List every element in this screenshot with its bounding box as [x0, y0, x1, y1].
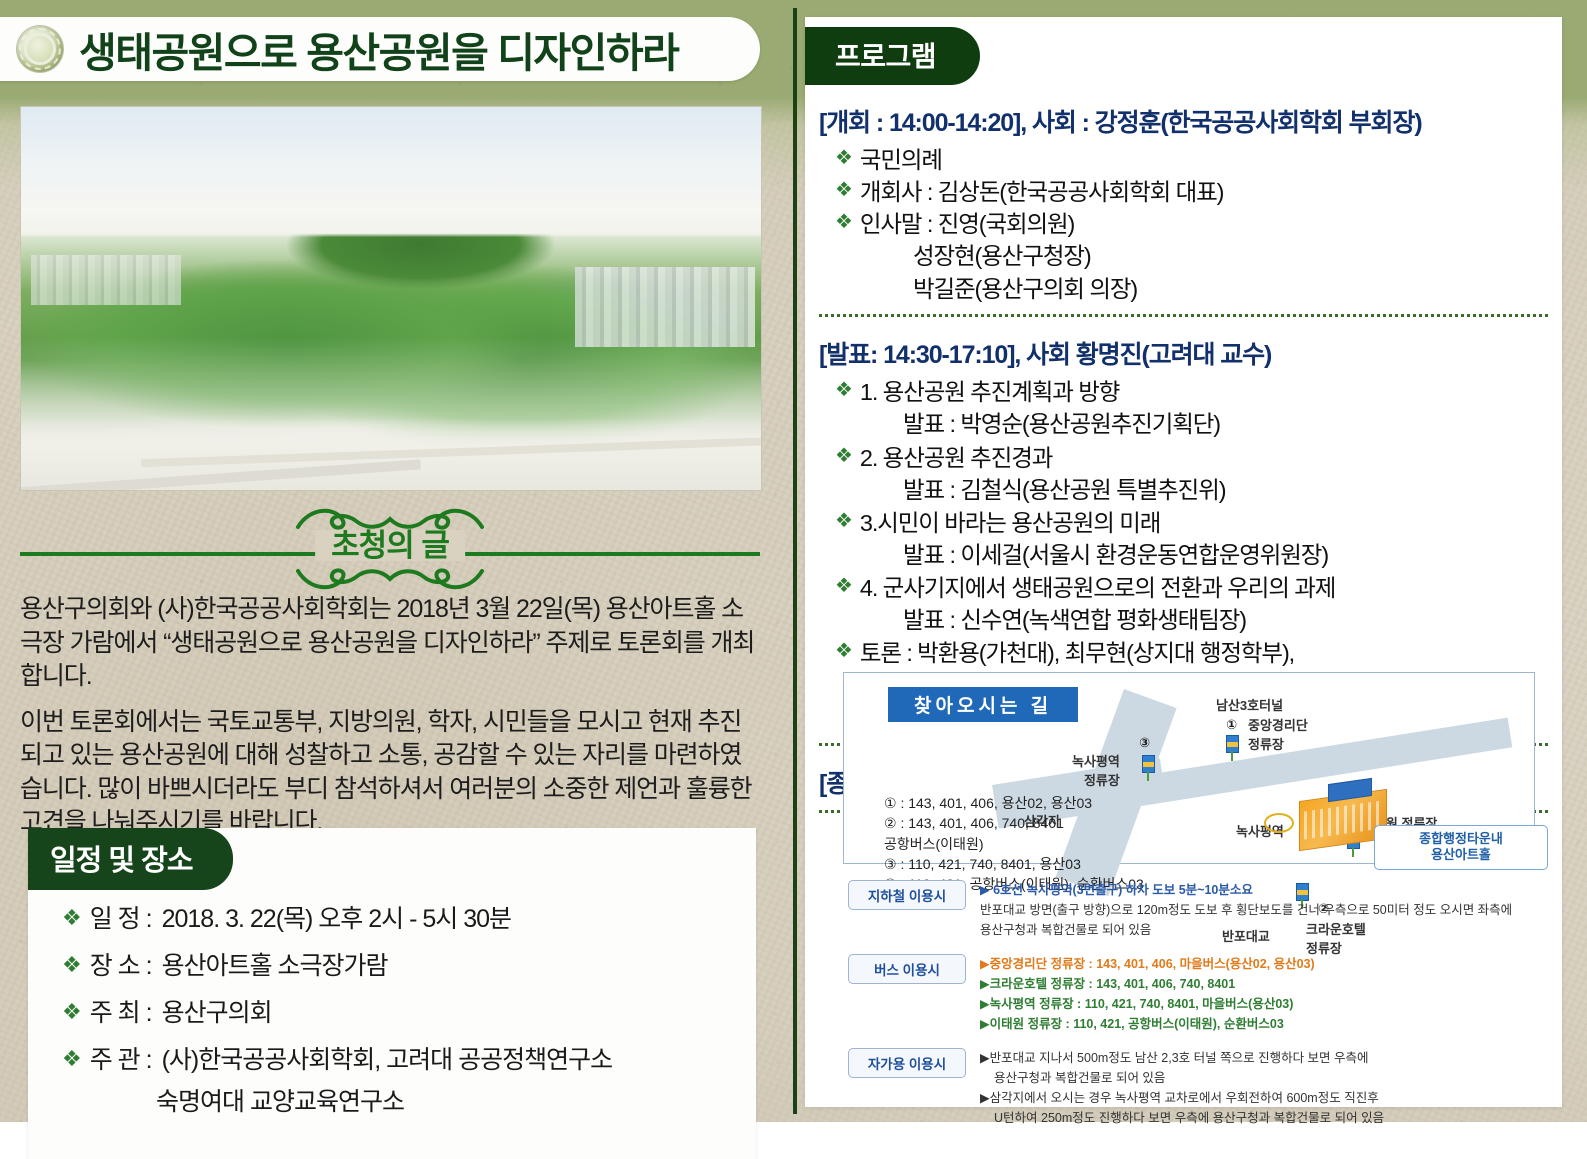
schedule-item-label: 장 소 :	[90, 951, 152, 981]
transport-line: ▶녹사평역 정류장 : 110, 421, 740, 8401, 마을버스(용산…	[980, 994, 1315, 1014]
bus-stop-pin-icon	[1226, 735, 1239, 753]
park-rendering-image	[20, 106, 762, 491]
transport-line: 반포대교 방면(출구 방향)으로 120m정도 도보 후 횡단보도를 건너 우측…	[980, 900, 1512, 920]
legend-line-1: ② : 143, 401, 406, 740, 8401	[884, 813, 1144, 833]
transport-line: 용산구청과 복합건물로 되어 있음	[980, 920, 1512, 940]
skyline-left	[31, 255, 181, 305]
invitation-paragraph-1: 용산구의회와 (사)한국공공사회학회는 2018년 3월 22일(목) 용산아트…	[20, 593, 760, 694]
diamond-bullet-icon: ❖	[835, 209, 852, 236]
presentation-title-2: 3.시민이 바라는 용산공원의 미래	[860, 508, 1160, 538]
presentation-presenter-2: 발표 : 이세걸(서울시 환경운동연합운영위원장)	[903, 540, 1562, 570]
schedule-tab-label: 일정 및 장소	[28, 828, 233, 890]
vertical-divider	[793, 8, 797, 1114]
list-item: ❖ 인사말 : 진영(국회의원)	[835, 209, 1562, 239]
transport-row-bus: 버스 이용시 ▶중앙경리단 정류장 : 143, 401, 406, 마을버스(…	[848, 954, 1548, 1034]
schedule-list: ❖ 일 정 : 2018. 3. 22(목) 오후 2시 - 5시 30분 ❖ …	[28, 904, 756, 1075]
poster-title-bar: 생태공원으로 용산공원을 디자인하라	[0, 17, 760, 81]
left-column: 생태공원으로 용산공원을 디자인하라 초청의 글 용산구의회와 (사)한국공공사…	[0, 0, 793, 1122]
transport-chip-subway: 지하철 이용시	[848, 880, 966, 910]
list-item: ❖ 주 관 : (사)한국공공사회학회, 고려대 공공정책연구소	[62, 1045, 756, 1075]
diamond-bullet-icon: ❖	[835, 638, 852, 665]
venue-callout: 종합행정타운내 용산아트홀	[1374, 825, 1548, 870]
transport-chip-bus: 버스 이용시	[848, 954, 966, 984]
diamond-bullet-icon: ❖	[62, 904, 81, 933]
opening-item-2: 인사말 : 진영(국회의원)	[860, 209, 1074, 239]
transport-body-subway: ▶ 6호선 녹사평역(3번출구) 하차 도보 5분~10분소요 반포대교 방면(…	[980, 880, 1512, 940]
list-item: ❖ 일 정 : 2018. 3. 22(목) 오후 2시 - 5시 30분	[62, 904, 756, 934]
opening-item-0: 국민의례	[860, 145, 942, 175]
foreground-roads	[21, 418, 761, 490]
schedule-item-value: 용산아트홀 소극장가람	[162, 951, 388, 981]
presentation-title-0: 1. 용산공원 추진계획과 방향	[860, 377, 1119, 407]
opening-heading: [개회 : 14:00-14:20], 사회 : 강정훈(한국공공사회학회 부회…	[819, 103, 1562, 139]
invitation-heading: 초청의 글	[315, 530, 465, 561]
schedule-card: 일정 및 장소 ❖ 일 정 : 2018. 3. 22(목) 오후 2시 - 5…	[28, 828, 756, 1159]
transport-chip-car: 자가용 이용시	[848, 1048, 966, 1078]
list-item: ❖ 4. 군사기지에서 생태공원으로의 전환과 우리의 과제	[835, 573, 1562, 603]
list-item: ❖ 주 최 : 용산구의회	[62, 998, 756, 1028]
directions-map: 찾아오시는 길 남산3호터널 삼각지 녹사평역 이태원역 반포대교 ① 중앙경리…	[843, 672, 1535, 864]
subway-marker-icon	[1264, 813, 1294, 833]
road-segment-2	[141, 437, 762, 467]
panel-list: ❖ 토론 : 박환용(가천대), 최무현(상지대 행정학부),	[805, 638, 1562, 668]
legend-line-0: ① : 143, 401, 406, 용산02, 용산03	[884, 793, 1144, 813]
program-tab-label: 프로그램	[805, 27, 980, 85]
panel-label: 토론 : 박환용(가천대), 최무현(상지대 행정학부),	[860, 638, 1294, 668]
transport-line: U턴하여 250m정도 진행하다 보면 우측에 용산구청과 복합건물로 되어 있…	[980, 1108, 1384, 1128]
opening-item-1: 개회사 : 김상돈(한국공공사회학회 대표)	[860, 177, 1224, 207]
schedule-item-value: 2018. 3. 22(목) 오후 2시 - 5시 30분	[162, 904, 511, 934]
flourish-bottom-icon	[290, 567, 490, 593]
skyline-right	[575, 267, 755, 347]
list-item: ❖ 장 소 : 용산아트홀 소극장가람	[62, 951, 756, 981]
diamond-bullet-icon: ❖	[835, 177, 852, 204]
diamond-bullet-icon: ❖	[835, 508, 852, 535]
invitation-paragraph-2: 이번 토론회에서는 국토교통부, 지방의원, 학자, 시민들을 모시고 현재 추…	[20, 706, 760, 840]
presentation-list: ❖ 2. 용산공원 추진경과	[805, 443, 1562, 473]
presentation-list: ❖ 3.시민이 바라는 용산공원의 미래	[805, 508, 1562, 538]
invitation-ornament: 초청의 글	[20, 505, 760, 593]
invitation-block: 초청의 글 용산구의회와 (사)한국공공사회학회는 2018년 3월 22일(목…	[20, 505, 760, 852]
list-item: ❖ 1. 용산공원 추진계획과 방향	[835, 377, 1562, 407]
section-divider	[819, 314, 1548, 317]
venue-callout-line-1: 종합행정타운내	[1377, 831, 1545, 847]
map-marker-3: ③	[1139, 735, 1150, 751]
transport-body-car: ▶반포대교 지나서 500m정도 남산 2,3호 터널 쪽으로 진행하다 보면 …	[980, 1048, 1384, 1128]
diamond-bullet-icon: ❖	[835, 573, 852, 600]
list-item: ❖ 국민의례	[835, 145, 1562, 175]
greeting-extra-0: 성장현(용산구청장)	[913, 241, 1562, 271]
presentation-presenter-3: 발표 : 신수연(녹색연합 평화생태팀장)	[903, 605, 1562, 635]
presentation-presenter-0: 발표 : 박영순(용산공원추진기획단)	[903, 409, 1562, 439]
transport-body-bus: ▶중앙경리단 정류장 : 143, 401, 406, 마을버스(용산02, 용…	[980, 954, 1315, 1034]
list-item: ❖ 토론 : 박환용(가천대), 최무현(상지대 행정학부),	[835, 638, 1562, 668]
transport-line: ▶크라운호텔 정류장 : 143, 401, 406, 740, 8401	[980, 974, 1315, 994]
diamond-bullet-icon: ❖	[835, 377, 852, 404]
transport-line: ▶ 6호선 녹사평역(3번출구) 하차 도보 5분~10분소요	[980, 880, 1512, 900]
presentation-list: ❖ 4. 군사기지에서 생태공원으로의 전환과 우리의 과제	[805, 573, 1562, 603]
schedule-item-value: (사)한국공공사회학회, 고려대 공공정책연구소	[162, 1045, 613, 1075]
schedule-item-label: 일 정 :	[90, 904, 152, 934]
diamond-bullet-icon: ❖	[62, 1045, 81, 1074]
transport-row-car: 자가용 이용시 ▶반포대교 지나서 500m정도 남산 2,3호 터널 쪽으로 …	[848, 1048, 1548, 1128]
greeting-extra-1: 박길준(용산구의회 의장)	[913, 274, 1562, 304]
venue-callout-line-2: 용산아트홀	[1377, 847, 1545, 863]
schedule-item-value: 용산구의회	[162, 998, 272, 1028]
diamond-bullet-icon: ❖	[835, 145, 852, 172]
diamond-bullet-icon: ❖	[835, 443, 852, 470]
presentation-title-3: 4. 군사기지에서 생태공원으로의 전환과 우리의 과제	[860, 573, 1335, 603]
schedule-extra-line: 숙명여대 교양교육연구소	[156, 1082, 756, 1118]
transport-line: ▶반포대교 지나서 500m정도 남산 2,3호 터널 쪽으로 진행하다 보면 …	[980, 1048, 1384, 1068]
legend-line-2: 공항버스(이태원)	[884, 834, 1144, 854]
transport-line: ▶삼각지에서 오시는 경우 녹사평역 교차로에서 우회전하여 600m정도 직진…	[980, 1088, 1384, 1108]
schedule-item-label: 주 관 :	[90, 1045, 152, 1075]
diamond-bullet-icon: ❖	[62, 998, 81, 1027]
map-label-stop-3: 녹사평역 정류장	[1072, 751, 1120, 789]
schedule-section: 일정 및 장소 ❖ 일 정 : 2018. 3. 22(목) 오후 2시 - 5…	[28, 828, 756, 1159]
transport-line: ▶이태원 정류장 : 110, 421, 공항버스(이태원), 순환버스03	[980, 1014, 1315, 1034]
legend-line-3: ③ : 110, 421, 740, 8401, 용산03	[884, 854, 1144, 874]
diamond-bullet-icon: ❖	[62, 951, 81, 980]
schedule-item-label: 주 최 :	[90, 998, 152, 1028]
list-item: ❖ 개회사 : 김상돈(한국공공사회학회 대표)	[835, 177, 1562, 207]
transport-directions: 지하철 이용시 ▶ 6호선 녹사평역(3번출구) 하차 도보 5분~10분소요 …	[848, 880, 1548, 1142]
presentation-title-1: 2. 용산공원 추진경과	[860, 443, 1052, 473]
map-label-tunnel: 남산3호터널	[1216, 695, 1283, 714]
rosette-seal-icon	[17, 26, 63, 72]
page-title: 생태공원으로 용산공원을 디자인하라	[79, 19, 678, 79]
transport-row-subway: 지하철 이용시 ▶ 6호선 녹사평역(3번출구) 하차 도보 5분~10분소요 …	[848, 880, 1548, 940]
map-title-banner: 찾아오시는 길	[888, 687, 1078, 722]
transport-line: 용산구청과 복합건물로 되어 있음	[980, 1068, 1384, 1088]
map-marker-1: ①	[1226, 717, 1237, 733]
transport-line: ▶중앙경리단 정류장 : 143, 401, 406, 마을버스(용산02, 용…	[980, 954, 1315, 974]
list-item: ❖ 2. 용산공원 추진경과	[835, 443, 1562, 473]
presentation-presenter-1: 발표 : 김철식(용산공원 특별추진위)	[903, 475, 1562, 505]
opening-list: ❖ 국민의례 ❖ 개회사 : 김상돈(한국공공사회학회 대표) ❖ 인사말 : …	[805, 145, 1562, 239]
map-label-stop-1: 중앙경리단 정류장	[1248, 715, 1308, 753]
presentation-list: ❖ 1. 용산공원 추진계획과 방향	[805, 377, 1562, 407]
bus-stop-pin-icon	[1142, 755, 1155, 773]
presentation-heading: [발표: 14:30-17:10], 사회 황명진(고려대 교수)	[819, 335, 1562, 371]
list-item: ❖ 3.시민이 바라는 용산공원의 미래	[835, 508, 1562, 538]
